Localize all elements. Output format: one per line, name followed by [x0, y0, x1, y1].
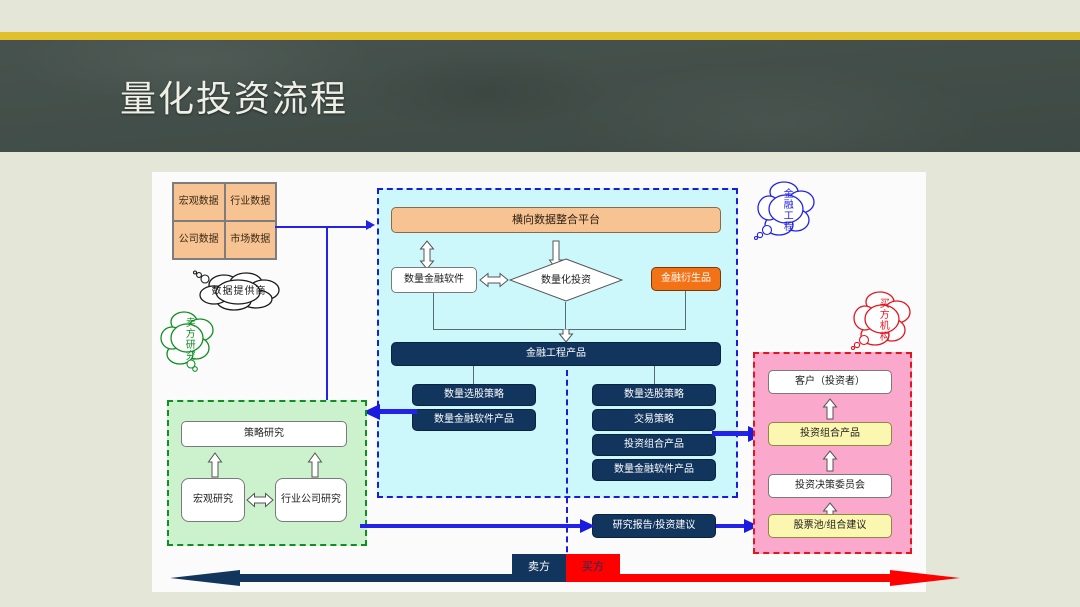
buy-side-callout: 买方机构 [852, 288, 912, 352]
buy-side-callout-label: 买方机构 [877, 298, 888, 342]
data-cell-market: 市场数据 [225, 221, 277, 259]
arrow-portfolio-to-client [822, 398, 838, 425]
node-stock-pool-advice: 股票池/组合建议 [768, 514, 892, 538]
sell-side-callout-label: 卖方研究 [183, 317, 194, 361]
data-provider-label: 数据提供商 [212, 287, 267, 298]
financial-engineering-callout-label: 金融工程 [781, 188, 792, 232]
connector-software-down [433, 293, 434, 329]
gold-accent-bar [0, 32, 1080, 40]
arrowhead-green-to-report [580, 519, 595, 533]
wire-arrowhead-platform [366, 220, 375, 230]
connector-fe-right [654, 366, 655, 384]
arrow-software-diamond [479, 272, 509, 293]
wire-green-to-report [360, 524, 584, 528]
slide-root: 量化投资流程 宏观数据 行业数据 公司数据 市场数据 数据提供 [0, 0, 1080, 607]
axis-bar-buy [566, 574, 896, 582]
arrow-committee-to-portfolio [822, 450, 838, 477]
node-industry-company-research: 行业公司研究 [275, 478, 347, 522]
data-provider-callout: 数据提供商 [190, 272, 288, 310]
node-investment-committee: 投资决策委员会 [768, 474, 892, 498]
top-strip [0, 0, 1080, 32]
wire-cyan-to-green [379, 409, 417, 414]
wire-data-branch-down [326, 226, 328, 407]
data-source-grid: 宏观数据 行业数据 公司数据 市场数据 [172, 182, 277, 260]
node-quant-investment-decision: 数量化投资 [509, 258, 623, 302]
connector-derivatives-down [685, 291, 686, 329]
node-right-output-1: 交易策略 [592, 409, 716, 431]
wire-cyan-to-pink [712, 431, 752, 436]
node-strategy-research: 策略研究 [181, 421, 347, 447]
node-macro-research: 宏观研究 [181, 478, 245, 522]
node-right-output-0: 数量选股策略 [592, 384, 716, 406]
data-cell-company: 公司数据 [173, 221, 225, 259]
axis-arrowhead-sell [170, 570, 240, 586]
data-cell-industry: 行业数据 [225, 183, 277, 221]
connector-diamond-down [565, 302, 566, 329]
node-right-output-3: 数量金融软件产品 [592, 459, 716, 481]
node-right-output-2: 投资组合产品 [592, 434, 716, 456]
sell-side-callout: 卖方研究 [160, 308, 216, 370]
arrow-macro-industry-bidir [246, 492, 274, 513]
node-left-output-0: 数量选股策略 [412, 384, 536, 406]
data-cell-macro: 宏观数据 [173, 183, 225, 221]
node-left-output-1: 数量金融软件产品 [412, 409, 536, 431]
node-data-platform: 横向数据整合平台 [391, 207, 721, 233]
node-derivatives: 金融衍生品 [651, 267, 721, 291]
node-quant-investment-label: 数量化投资 [509, 258, 623, 302]
node-client-investor: 客户（投资者） [768, 370, 892, 394]
axis-bar-sell [236, 574, 566, 582]
page-title: 量化投资流程 [120, 70, 348, 122]
node-fe-products: 金融工程产品 [391, 342, 721, 366]
sell-buy-divider-line [566, 370, 568, 562]
node-quant-software: 数量金融软件 [391, 267, 477, 293]
node-portfolio-product: 投资组合产品 [768, 422, 892, 446]
financial-engineering-callout: 金融工程 [756, 178, 816, 242]
node-research-report: 研究报告/投资建议 [592, 514, 716, 538]
connector-fe-left [473, 366, 474, 384]
wire-data-to-platform [275, 226, 371, 228]
axis-arrowhead-buy [890, 570, 960, 586]
